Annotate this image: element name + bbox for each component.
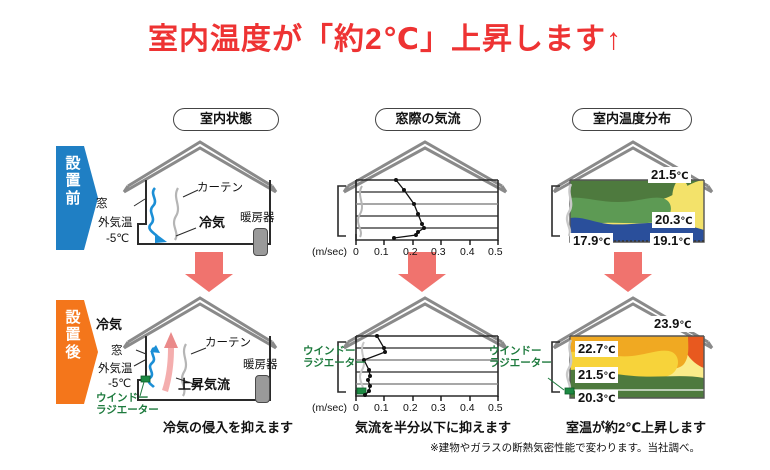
axis-unit-after: (m/sec): [312, 402, 347, 414]
label-cold-air-before: 冷気: [199, 216, 225, 231]
label-curtain-after: カーテン: [205, 337, 251, 350]
label-window-before: 窓: [96, 198, 108, 211]
axis-tick-before-4: 0.4: [460, 246, 475, 258]
temp-chip-after-0: 23.9℃: [651, 316, 694, 332]
axis-tick-before-5: 0.5: [488, 246, 503, 258]
label-heater-after: 暖房器: [243, 359, 278, 372]
label-window-radiator-airflow-after: ウインドー ラジエーター: [303, 346, 366, 370]
temp-chip-after-1: 22.7℃: [575, 341, 618, 357]
label-updraft-after: 上昇気流: [178, 378, 230, 393]
transition-arrow-left: [185, 252, 233, 297]
heater-icon-after: [255, 375, 270, 403]
axis-tick-after-1: 0.1: [374, 402, 389, 414]
axis-unit-before: (m/sec): [312, 246, 347, 258]
axis-tick-after-3: 0.3: [431, 402, 446, 414]
label-window-radiator-temp-after: ウインドー ラジエーター: [489, 346, 552, 370]
temp-chip-after-3: 20.3℃: [575, 390, 618, 406]
page-title: 室内温度が「約2℃」上昇します↑: [0, 14, 770, 58]
label-outside-temp-after: 外気温: [98, 363, 133, 376]
footnote: ※建物やガラスの断熱気密性能で変わります。当社調べ。: [430, 440, 700, 455]
axis-tick-before-1: 0.1: [374, 246, 389, 258]
column-header-indoor-condition: 室内状態: [173, 108, 279, 131]
row-banner-before: 設 置 前: [56, 146, 98, 250]
row-banner-after: 設 置 後: [56, 300, 98, 404]
axis-tick-after-4: 0.4: [460, 402, 475, 414]
temp-chip-before-3: 19.1℃: [650, 233, 693, 249]
caption-window-airflow: 気流を半分以下に抑えます: [355, 417, 511, 436]
house-temp-before: [538, 136, 728, 254]
label-cold-air-after: 冷気: [96, 318, 122, 333]
column-header-window-airflow: 窓際の気流: [375, 108, 481, 131]
label-window-after: 窓: [111, 345, 123, 358]
temp-chip-before-0: 21.5℃: [648, 167, 691, 183]
label-curtain-before: カーテン: [197, 182, 243, 195]
row-banner-before-label: 設 置 前: [56, 155, 90, 207]
row-banner-after-label: 設 置 後: [56, 309, 90, 361]
label-heater-before: 暖房器: [240, 212, 275, 225]
transition-arrow-middle: [398, 252, 446, 297]
column-header-temperature-distribution: 室内温度分布: [572, 108, 692, 131]
axis-tick-after-0: 0: [353, 402, 359, 414]
heater-icon-before: [253, 228, 268, 256]
caption-indoor-condition: 冷気の侵入を抑えます: [163, 417, 293, 436]
axis-tick-after-5: 0.5: [488, 402, 503, 414]
axis-tick-before-0: 0: [353, 246, 359, 258]
house-airflow-before: [332, 136, 518, 254]
axis-tick-before-2: 0.2: [403, 246, 418, 258]
temp-chip-after-2: 21.5℃: [575, 367, 618, 383]
label-window-radiator-house-after: ウインドー ラジエーター: [96, 393, 159, 417]
infographic-root: 室内温度が「約2℃」上昇します↑ 室内状態 窓際の気流 室内温度分布 設 置 前…: [0, 0, 770, 470]
axis-tick-before-3: 0.3: [431, 246, 446, 258]
temp-chip-before-2: 17.9℃: [570, 233, 613, 249]
house-temp-after: [538, 292, 728, 410]
label-outside-temp-value-before: -5℃: [106, 233, 129, 246]
temp-chip-before-1: 20.3℃: [652, 212, 695, 228]
label-outside-temp-before: 外気温: [98, 217, 133, 230]
transition-arrow-right: [604, 252, 652, 297]
axis-tick-after-2: 0.2: [403, 402, 418, 414]
caption-temperature-distribution: 室温が約2℃上昇します: [566, 417, 706, 436]
label-outside-temp-value-after: -5℃: [108, 378, 131, 391]
